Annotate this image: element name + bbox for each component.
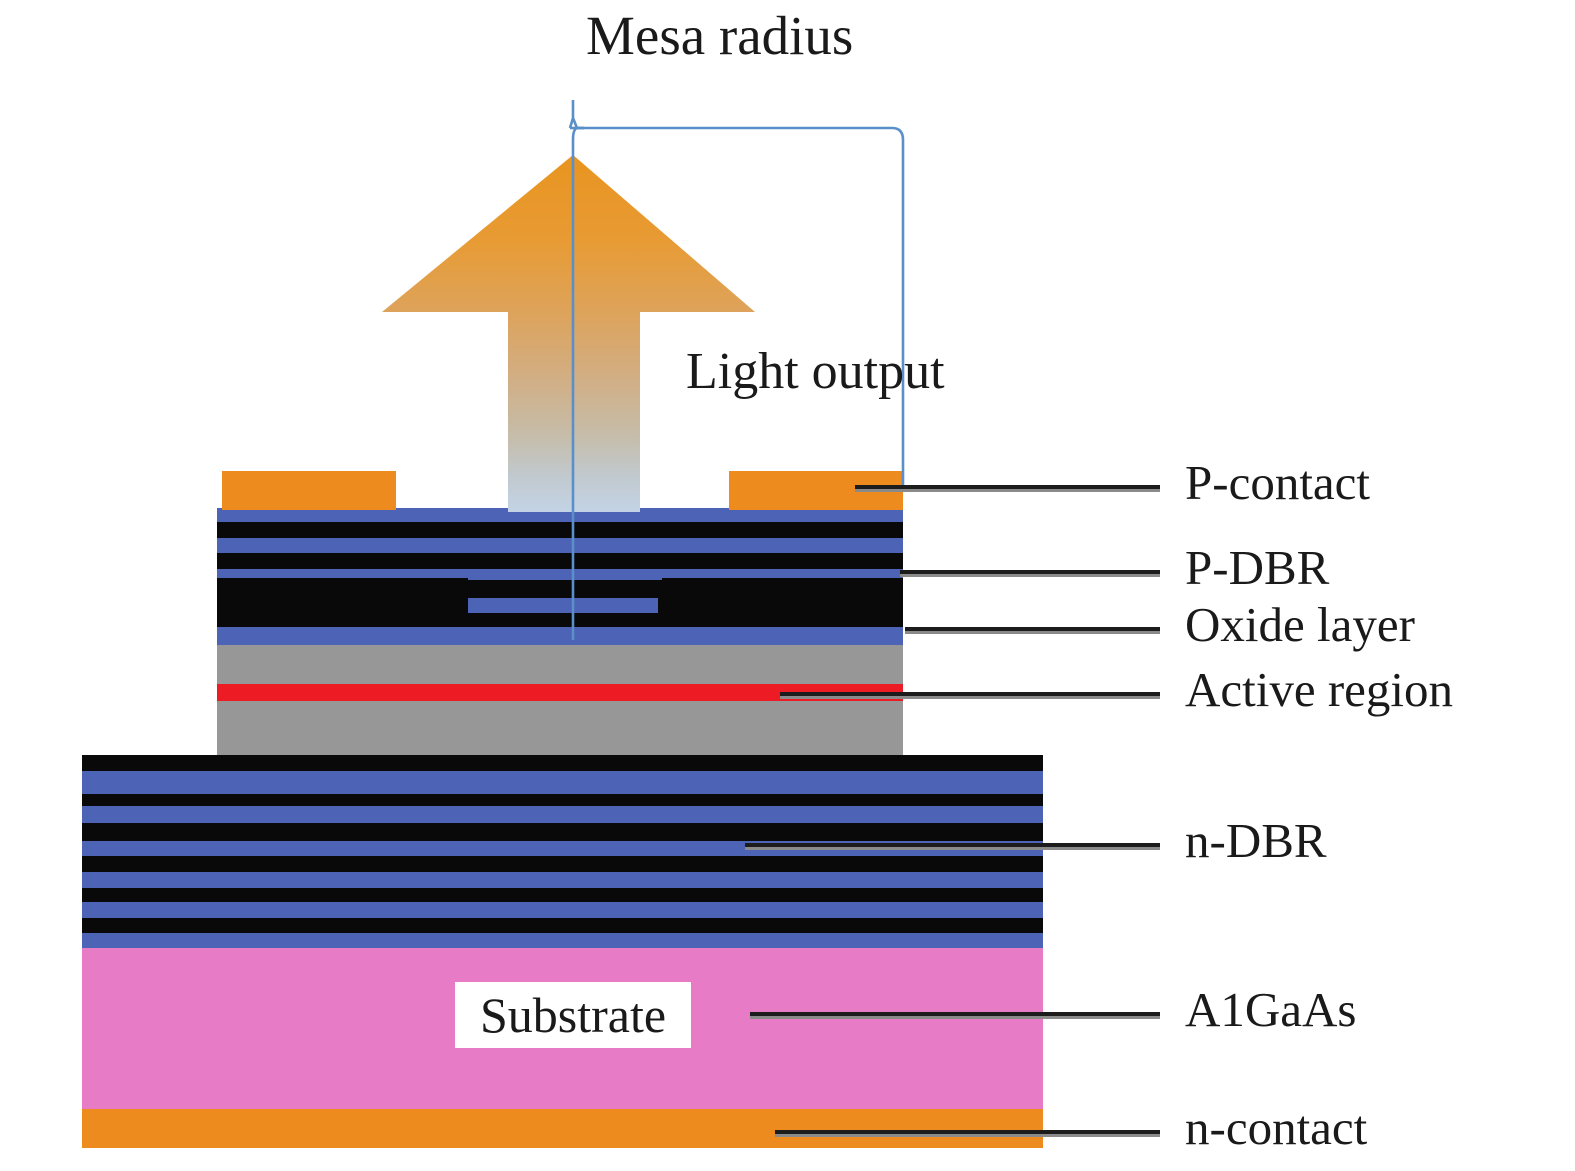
leader-line-active-region [780, 692, 1160, 696]
oxide-aperture-bar [468, 598, 658, 613]
n-dbr-band-9 [82, 902, 1043, 918]
n-dbr-band-8 [82, 888, 1043, 902]
n-dbr-band-7 [82, 872, 1043, 888]
n-dbr-band-0 [82, 755, 1043, 771]
mesa-radius-label: Mesa radius [586, 8, 853, 63]
p-dbr-band-6 [217, 627, 903, 645]
figure-canvas: Mesa radius Light output Substrate P-con… [0, 0, 1575, 1171]
n-dbr-band-3 [82, 806, 1043, 823]
callout-label-p-dbr: P-DBR [1185, 543, 1329, 592]
n-dbr-band-1 [82, 771, 1043, 794]
callout-label-algaas: A1GaAs [1185, 985, 1356, 1034]
callout-label-oxide-layer: Oxide layer [1185, 600, 1415, 649]
n-dbr-band-6 [82, 856, 1043, 872]
leader-line-p-dbr [900, 570, 1160, 574]
callout-label-active-region: Active region [1185, 665, 1453, 714]
leader-line-oxide-layer [905, 627, 1160, 631]
n-dbr-band-11 [82, 933, 1043, 948]
leader-line-n-contact [775, 1130, 1160, 1134]
leader-line-p-contact [855, 485, 1160, 489]
n-contact-layer [82, 1109, 1043, 1148]
callout-label-p-contact: P-contact [1185, 458, 1370, 507]
light-output-label: Light output [686, 346, 945, 398]
p-dbr-band-2 [217, 538, 903, 553]
p-contact-pad-left [222, 471, 396, 510]
substrate-label: Substrate [455, 982, 691, 1048]
n-dbr-band-10 [82, 918, 1043, 933]
p-dbr-band-1 [217, 522, 903, 538]
n-dbr-band-2 [82, 794, 1043, 806]
leader-line-n-dbr [745, 843, 1160, 847]
oxide-aperture-step [468, 569, 662, 580]
callout-label-n-contact: n-contact [1185, 1103, 1367, 1152]
p-dbr-band-3 [217, 553, 903, 569]
n-dbr-band-4 [82, 823, 1043, 841]
leader-line-algaas [750, 1012, 1160, 1016]
p-dbr-band-0 [217, 508, 903, 522]
callout-label-n-dbr: n-DBR [1185, 816, 1327, 865]
